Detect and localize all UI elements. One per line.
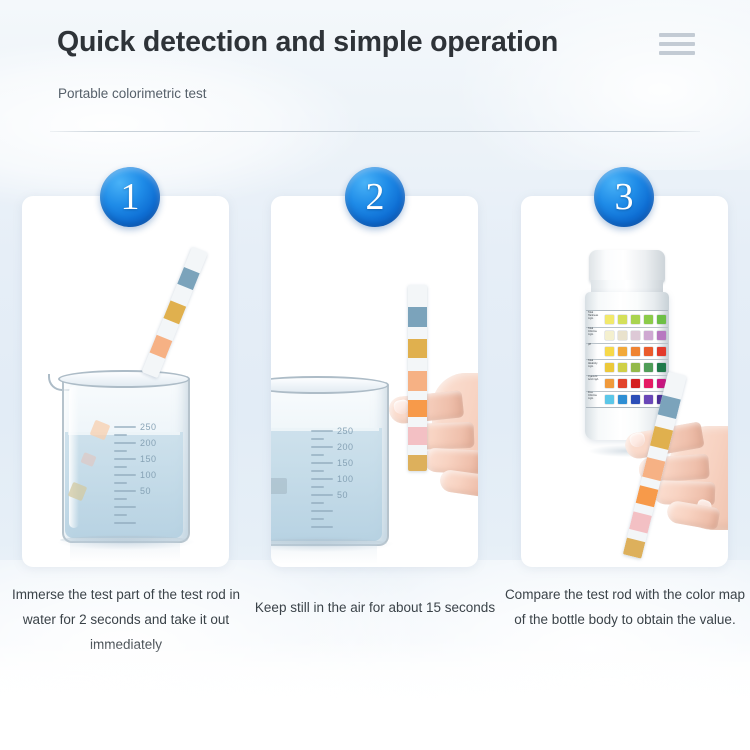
chart-row-swatches — [603, 311, 668, 327]
chart-row-name: pH — [586, 343, 603, 359]
beaker-graduations: 250 200 150 100 50 — [311, 428, 381, 540]
hand-holding-strip — [384, 331, 478, 531]
strip-pad-3 — [408, 371, 427, 391]
swatch — [605, 363, 614, 372]
strip-pad-1 — [177, 267, 200, 290]
swatch — [631, 379, 640, 388]
swatch — [605, 395, 614, 404]
step-badge-2: 2 — [345, 167, 405, 227]
chart-row-swatches — [603, 327, 668, 343]
chart-row-3: pH — [586, 343, 668, 360]
swatch — [644, 315, 653, 324]
graduation-label: 200 — [337, 442, 354, 452]
chart-row-1: Total Hardness mg/L — [586, 311, 668, 328]
chart-row-name: Total Hardness mg/L — [586, 311, 603, 327]
swatch — [605, 315, 614, 324]
swatch — [631, 347, 640, 356]
graduation-label: 200 — [140, 438, 157, 448]
beaker-highlight — [69, 386, 79, 528]
chart-row-2: Total Chlorine mg/L — [586, 327, 668, 344]
bottle-cap — [589, 250, 665, 284]
strip-pad-6 — [623, 538, 646, 559]
submerged-pad-grey — [271, 478, 287, 494]
promo-page: Quick detection and simple operation Por… — [0, 0, 750, 750]
chart-row-5: Cyanuric Acid mg/L — [586, 375, 668, 392]
test-strip-dipped — [142, 247, 208, 379]
strip-pad-6 — [408, 455, 427, 471]
chart-row-name: Total Chlorine mg/L — [586, 327, 603, 343]
step-caption-2: Keep still in the air for about 15 secon… — [251, 595, 499, 620]
graduation-label: 100 — [337, 474, 354, 484]
swatch — [657, 331, 666, 340]
swatch — [631, 331, 640, 340]
step-number: 2 — [366, 178, 385, 216]
swatch — [631, 363, 640, 372]
swatch — [657, 347, 666, 356]
graduation-label: 100 — [140, 470, 157, 480]
beaker-reflection — [271, 542, 377, 567]
graduation-label: 150 — [140, 454, 157, 464]
step-card-2[interactable]: 250 200 150 100 50 — [271, 196, 478, 567]
bottle-color-chart-label: Total Hardness mg/L Total Chlorine mg/L — [586, 310, 668, 408]
step-caption-1: Immerse the test part of the test rod in… — [2, 582, 250, 657]
swatch — [618, 379, 627, 388]
step-number: 1 — [121, 178, 140, 216]
swatch — [644, 331, 653, 340]
swatch — [618, 363, 627, 372]
beaker-reflection — [70, 540, 180, 566]
beaker-1: 250 200 150 100 50 — [62, 376, 186, 541]
swatch — [618, 315, 627, 324]
chart-row-swatches — [603, 359, 668, 375]
chart-row-name: Total Alkalinity mg/L — [586, 359, 603, 375]
strip-pad-2 — [163, 300, 186, 324]
graduation-label: 50 — [140, 486, 151, 496]
graduation-label: 250 — [337, 426, 354, 436]
swatch — [644, 395, 653, 404]
swatch — [605, 347, 614, 356]
graduation-label: 150 — [337, 458, 354, 468]
step-card-1[interactable]: 250 200 150 100 50 — [22, 196, 229, 567]
chart-row-name: Free Chlorine mg/L — [586, 391, 603, 407]
graduation-label: 50 — [337, 490, 348, 500]
chart-row-swatches — [603, 375, 668, 391]
swatch — [631, 315, 640, 324]
swatch — [644, 379, 653, 388]
swatch — [657, 363, 666, 372]
step-number: 3 — [615, 178, 634, 216]
strip-pad-3 — [149, 335, 172, 359]
swatch — [618, 347, 627, 356]
strip-pad-2 — [408, 339, 427, 358]
beaker-2: 250 200 150 100 50 — [271, 382, 385, 544]
swatch — [631, 395, 640, 404]
beaker-rim — [58, 370, 190, 388]
chart-row-swatches — [603, 343, 668, 359]
swatch — [644, 363, 653, 372]
steps-container: 250 200 150 100 50 — [0, 0, 750, 750]
strip-pad-1 — [408, 307, 427, 327]
swatch — [605, 379, 614, 388]
swatch — [657, 315, 666, 324]
beaker-graduations: 250 200 150 100 50 — [114, 424, 184, 536]
step-card-3[interactable]: Total Hardness mg/L Total Chlorine mg/L — [521, 196, 728, 567]
step-badge-3: 3 — [594, 167, 654, 227]
swatch — [618, 395, 627, 404]
swatch — [605, 331, 614, 340]
test-strip-vertical — [408, 285, 427, 471]
swatch — [618, 331, 627, 340]
little-finger — [439, 469, 478, 497]
chart-row-4: Total Alkalinity mg/L — [586, 359, 668, 376]
swatch — [644, 347, 653, 356]
step-badge-1: 1 — [100, 167, 160, 227]
chart-row-name: Cyanuric Acid mg/L — [586, 375, 603, 391]
strip-pad-5 — [408, 427, 427, 445]
graduation-label: 250 — [140, 422, 157, 432]
step-caption-3: Compare the test rod with the color map … — [501, 582, 749, 632]
strip-pad-4 — [408, 400, 427, 417]
